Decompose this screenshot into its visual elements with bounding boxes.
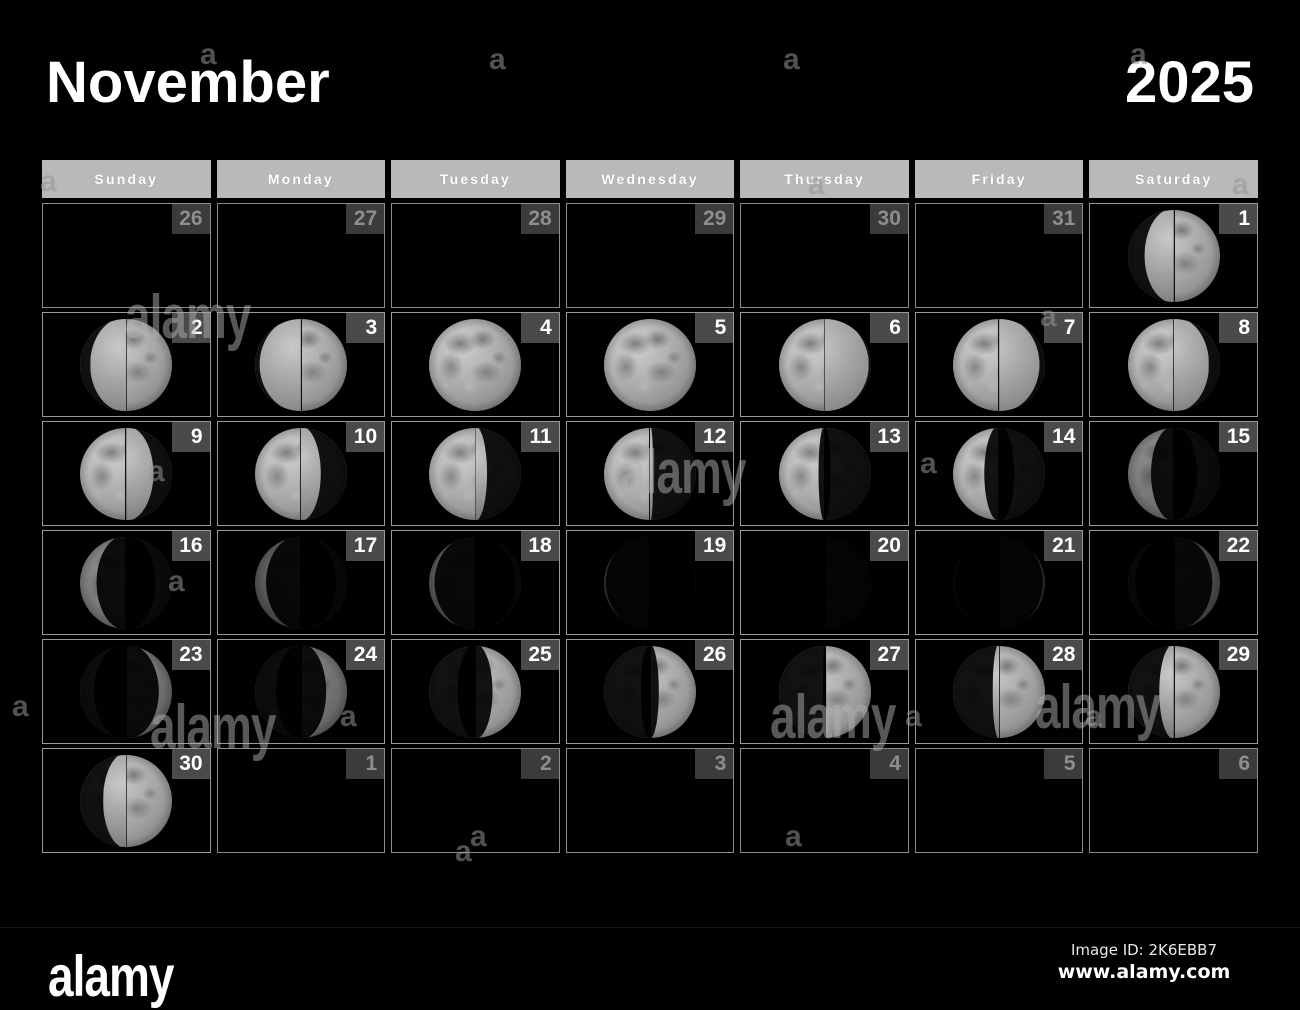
weekday-header-tuesday: Tuesday — [391, 160, 560, 198]
alamy-url-label: www.alamy.com — [1024, 960, 1264, 984]
moon-phase-waxing-gibbous — [1128, 646, 1220, 738]
day-cell[interactable]: 5 — [566, 312, 735, 417]
moon-disc — [80, 755, 172, 847]
date-number: 28 — [1044, 640, 1082, 670]
date-number: 4 — [870, 749, 908, 779]
date-number: 23 — [172, 640, 210, 670]
weekday-header-saturday: Saturday — [1089, 160, 1258, 198]
year-title: 2025 — [1125, 52, 1254, 114]
moon-disc — [429, 646, 521, 738]
date-number: 28 — [521, 204, 559, 234]
date-number: 22 — [1219, 531, 1257, 561]
moon-disc — [779, 537, 871, 629]
date-number: 30 — [870, 204, 908, 234]
day-cell[interactable]: 21 — [915, 530, 1084, 635]
moon-phase-waxing-crescent — [1128, 537, 1220, 629]
day-cell-out-of-month[interactable]: 29 — [566, 203, 735, 308]
date-number: 2 — [172, 313, 210, 343]
date-number: 15 — [1219, 422, 1257, 452]
moon-phase-waning-gibbous — [1128, 319, 1220, 411]
moon-disc — [429, 428, 521, 520]
weekday-header-sunday: Sunday — [42, 160, 211, 198]
moon-disc — [80, 646, 172, 738]
weekday-header-thursday: Thursday — [740, 160, 909, 198]
moon-disc — [255, 646, 347, 738]
moon-phase-first-quarter — [953, 646, 1045, 738]
date-number: 11 — [521, 422, 559, 452]
date-number: 8 — [1219, 313, 1257, 343]
day-cell[interactable]: 12 — [566, 421, 735, 526]
weekday-label: Friday — [972, 171, 1027, 187]
day-cell[interactable]: 6 — [740, 312, 909, 417]
date-number: 17 — [346, 531, 384, 561]
day-cell[interactable]: 15 — [1089, 421, 1258, 526]
moon-phase-waxing-gibbous — [80, 755, 172, 847]
moon-disc — [953, 428, 1045, 520]
moon-phase-waning-gibbous — [429, 428, 521, 520]
week-row: 30123456 — [42, 748, 1258, 853]
moon-phase-waxing-crescent — [779, 646, 871, 738]
date-number: 30 — [172, 749, 210, 779]
date-number: 13 — [870, 422, 908, 452]
moon-disc — [80, 319, 172, 411]
alamy-logo: alamy — [48, 942, 173, 1010]
date-number: 24 — [346, 640, 384, 670]
week-row: 9101112131415 — [42, 421, 1258, 526]
weeks-container: 2627282930311234567891011121314151617181… — [42, 203, 1258, 853]
moon-phase-full-moon — [604, 319, 696, 411]
day-cell-out-of-month[interactable]: 31 — [915, 203, 1084, 308]
day-cell[interactable]: 7 — [915, 312, 1084, 417]
date-number: 3 — [346, 313, 384, 343]
date-number: 18 — [521, 531, 559, 561]
moon-disc — [953, 537, 1045, 629]
day-cell-out-of-month[interactable]: 1 — [217, 748, 386, 853]
image-id-label: Image ID: 2K6EBB7 — [1024, 940, 1264, 960]
moon-phase-waning-gibbous — [779, 319, 871, 411]
weekday-header-monday: Monday — [217, 160, 386, 198]
day-cell[interactable]: 26 — [566, 639, 735, 744]
date-number: 31 — [1044, 204, 1082, 234]
day-cell-out-of-month[interactable]: 27 — [217, 203, 386, 308]
month-title: November — [46, 52, 330, 114]
day-cell[interactable]: 19 — [566, 530, 735, 635]
day-cell[interactable]: 4 — [391, 312, 560, 417]
date-number: 1 — [346, 749, 384, 779]
moon-phase-last-quarter — [604, 428, 696, 520]
day-cell[interactable]: 2 — [42, 312, 211, 417]
moon-disc — [953, 319, 1045, 411]
date-number: 5 — [1044, 749, 1082, 779]
date-number: 25 — [521, 640, 559, 670]
moon-disc — [255, 428, 347, 520]
day-cell[interactable]: 14 — [915, 421, 1084, 526]
day-cell-out-of-month[interactable]: 6 — [1089, 748, 1258, 853]
weekday-label: Wednesday — [601, 171, 698, 187]
moon-phase-waxing-gibbous — [80, 319, 172, 411]
date-number: 6 — [1219, 749, 1257, 779]
day-cell[interactable]: 10 — [217, 421, 386, 526]
week-row: 2627282930311 — [42, 203, 1258, 308]
footer-bar: alamy Image ID: 2K6EBB7 www.alamy.com — [0, 927, 1300, 1000]
date-number: 4 — [521, 313, 559, 343]
day-cell[interactable]: 30 — [42, 748, 211, 853]
date-number: 2 — [521, 749, 559, 779]
date-number: 29 — [1219, 640, 1257, 670]
moon-phase-waning-crescent — [953, 428, 1045, 520]
moon-disc — [1128, 537, 1220, 629]
date-number: 10 — [346, 422, 384, 452]
day-cell[interactable]: 13 — [740, 421, 909, 526]
footer-meta: Image ID: 2K6EBB7 www.alamy.com — [1024, 940, 1264, 984]
moon-phase-waxing-crescent — [429, 646, 521, 738]
moon-disc — [429, 319, 521, 411]
moon-phase-new-moon — [779, 537, 871, 629]
moon-disc — [604, 319, 696, 411]
day-cell[interactable]: 24 — [217, 639, 386, 744]
weekday-header-row: SundayMondayTuesdayWednesdayThursdayFrid… — [42, 160, 1258, 198]
moon-disc — [953, 646, 1045, 738]
moon-phase-waning-gibbous — [953, 319, 1045, 411]
day-cell[interactable]: 20 — [740, 530, 909, 635]
date-number: 29 — [695, 204, 733, 234]
moon-disc — [255, 537, 347, 629]
alamy-watermark-letter: a — [12, 690, 29, 724]
weekday-label: Monday — [268, 171, 334, 187]
moon-disc — [80, 537, 172, 629]
moon-disc — [604, 646, 696, 738]
date-number: 26 — [172, 204, 210, 234]
date-number: 9 — [172, 422, 210, 452]
week-row: 2345678 — [42, 312, 1258, 417]
date-number: 6 — [870, 313, 908, 343]
moon-phase-waxing-crescent — [255, 646, 347, 738]
day-cell-out-of-month[interactable]: 5 — [915, 748, 1084, 853]
day-cell[interactable]: 23 — [42, 639, 211, 744]
day-cell[interactable]: 1 — [1089, 203, 1258, 308]
calendar-grid: SundayMondayTuesdayWednesdayThursdayFrid… — [42, 160, 1258, 857]
moon-phase-waning-gibbous — [80, 428, 172, 520]
date-number: 26 — [695, 640, 733, 670]
weekday-label: Tuesday — [440, 171, 511, 187]
moon-disc — [779, 428, 871, 520]
moon-disc — [1128, 646, 1220, 738]
day-cell[interactable]: 27 — [740, 639, 909, 744]
date-number: 7 — [1044, 313, 1082, 343]
moon-phase-waning-crescent — [80, 537, 172, 629]
weekday-label: Saturday — [1135, 171, 1213, 187]
moon-phase-waxing-gibbous — [255, 319, 347, 411]
day-cell[interactable]: 29 — [1089, 639, 1258, 744]
week-row: 23242526272829 — [42, 639, 1258, 744]
weekday-header-wednesday: Wednesday — [566, 160, 735, 198]
moon-phase-waning-crescent — [779, 428, 871, 520]
moon-phase-waning-gibbous — [255, 428, 347, 520]
day-cell-out-of-month[interactable]: 2 — [391, 748, 560, 853]
moon-disc — [604, 428, 696, 520]
week-row: 16171819202122 — [42, 530, 1258, 635]
moon-phase-waxing-crescent — [953, 537, 1045, 629]
date-number: 27 — [870, 640, 908, 670]
weekday-label: Thursday — [784, 171, 865, 187]
moon-phase-waxing-crescent — [604, 646, 696, 738]
day-cell-out-of-month[interactable]: 4 — [740, 748, 909, 853]
day-cell[interactable]: 3 — [217, 312, 386, 417]
date-number: 3 — [695, 749, 733, 779]
moon-disc — [1128, 210, 1220, 302]
moon-disc — [779, 319, 871, 411]
date-number: 5 — [695, 313, 733, 343]
moon-disc — [779, 646, 871, 738]
day-cell[interactable]: 17 — [217, 530, 386, 635]
day-cell[interactable]: 9 — [42, 421, 211, 526]
moon-phase-waning-crescent — [1128, 428, 1220, 520]
moon-phase-waxing-gibbous — [1128, 210, 1220, 302]
moon-disc — [1128, 319, 1220, 411]
day-cell[interactable]: 16 — [42, 530, 211, 635]
date-number: 12 — [695, 422, 733, 452]
day-cell[interactable]: 18 — [391, 530, 560, 635]
day-cell-out-of-month[interactable]: 26 — [42, 203, 211, 308]
date-number: 14 — [1044, 422, 1082, 452]
moon-disc — [1128, 428, 1220, 520]
moon-phase-waning-crescent — [255, 537, 347, 629]
day-cell[interactable]: 28 — [915, 639, 1084, 744]
calendar-header: November 2025 — [0, 0, 1300, 155]
date-number: 21 — [1044, 531, 1082, 561]
day-cell-out-of-month[interactable]: 30 — [740, 203, 909, 308]
moon-disc — [80, 428, 172, 520]
moon-phase-waxing-gibbous — [429, 319, 521, 411]
day-cell[interactable]: 11 — [391, 421, 560, 526]
moon-disc — [255, 319, 347, 411]
day-cell[interactable]: 8 — [1089, 312, 1258, 417]
moon-phase-waxing-crescent — [80, 646, 172, 738]
moon-disc — [604, 537, 696, 629]
day-cell[interactable]: 22 — [1089, 530, 1258, 635]
date-number: 27 — [346, 204, 384, 234]
weekday-header-friday: Friday — [915, 160, 1084, 198]
day-cell[interactable]: 25 — [391, 639, 560, 744]
weekday-label: Sunday — [94, 171, 158, 187]
date-number: 1 — [1219, 204, 1257, 234]
day-cell-out-of-month[interactable]: 28 — [391, 203, 560, 308]
date-number: 19 — [695, 531, 733, 561]
date-number: 16 — [172, 531, 210, 561]
moon-phase-waning-crescent — [604, 537, 696, 629]
day-cell-out-of-month[interactable]: 3 — [566, 748, 735, 853]
moon-disc — [429, 537, 521, 629]
date-number: 20 — [870, 531, 908, 561]
moon-phase-waning-crescent — [429, 537, 521, 629]
